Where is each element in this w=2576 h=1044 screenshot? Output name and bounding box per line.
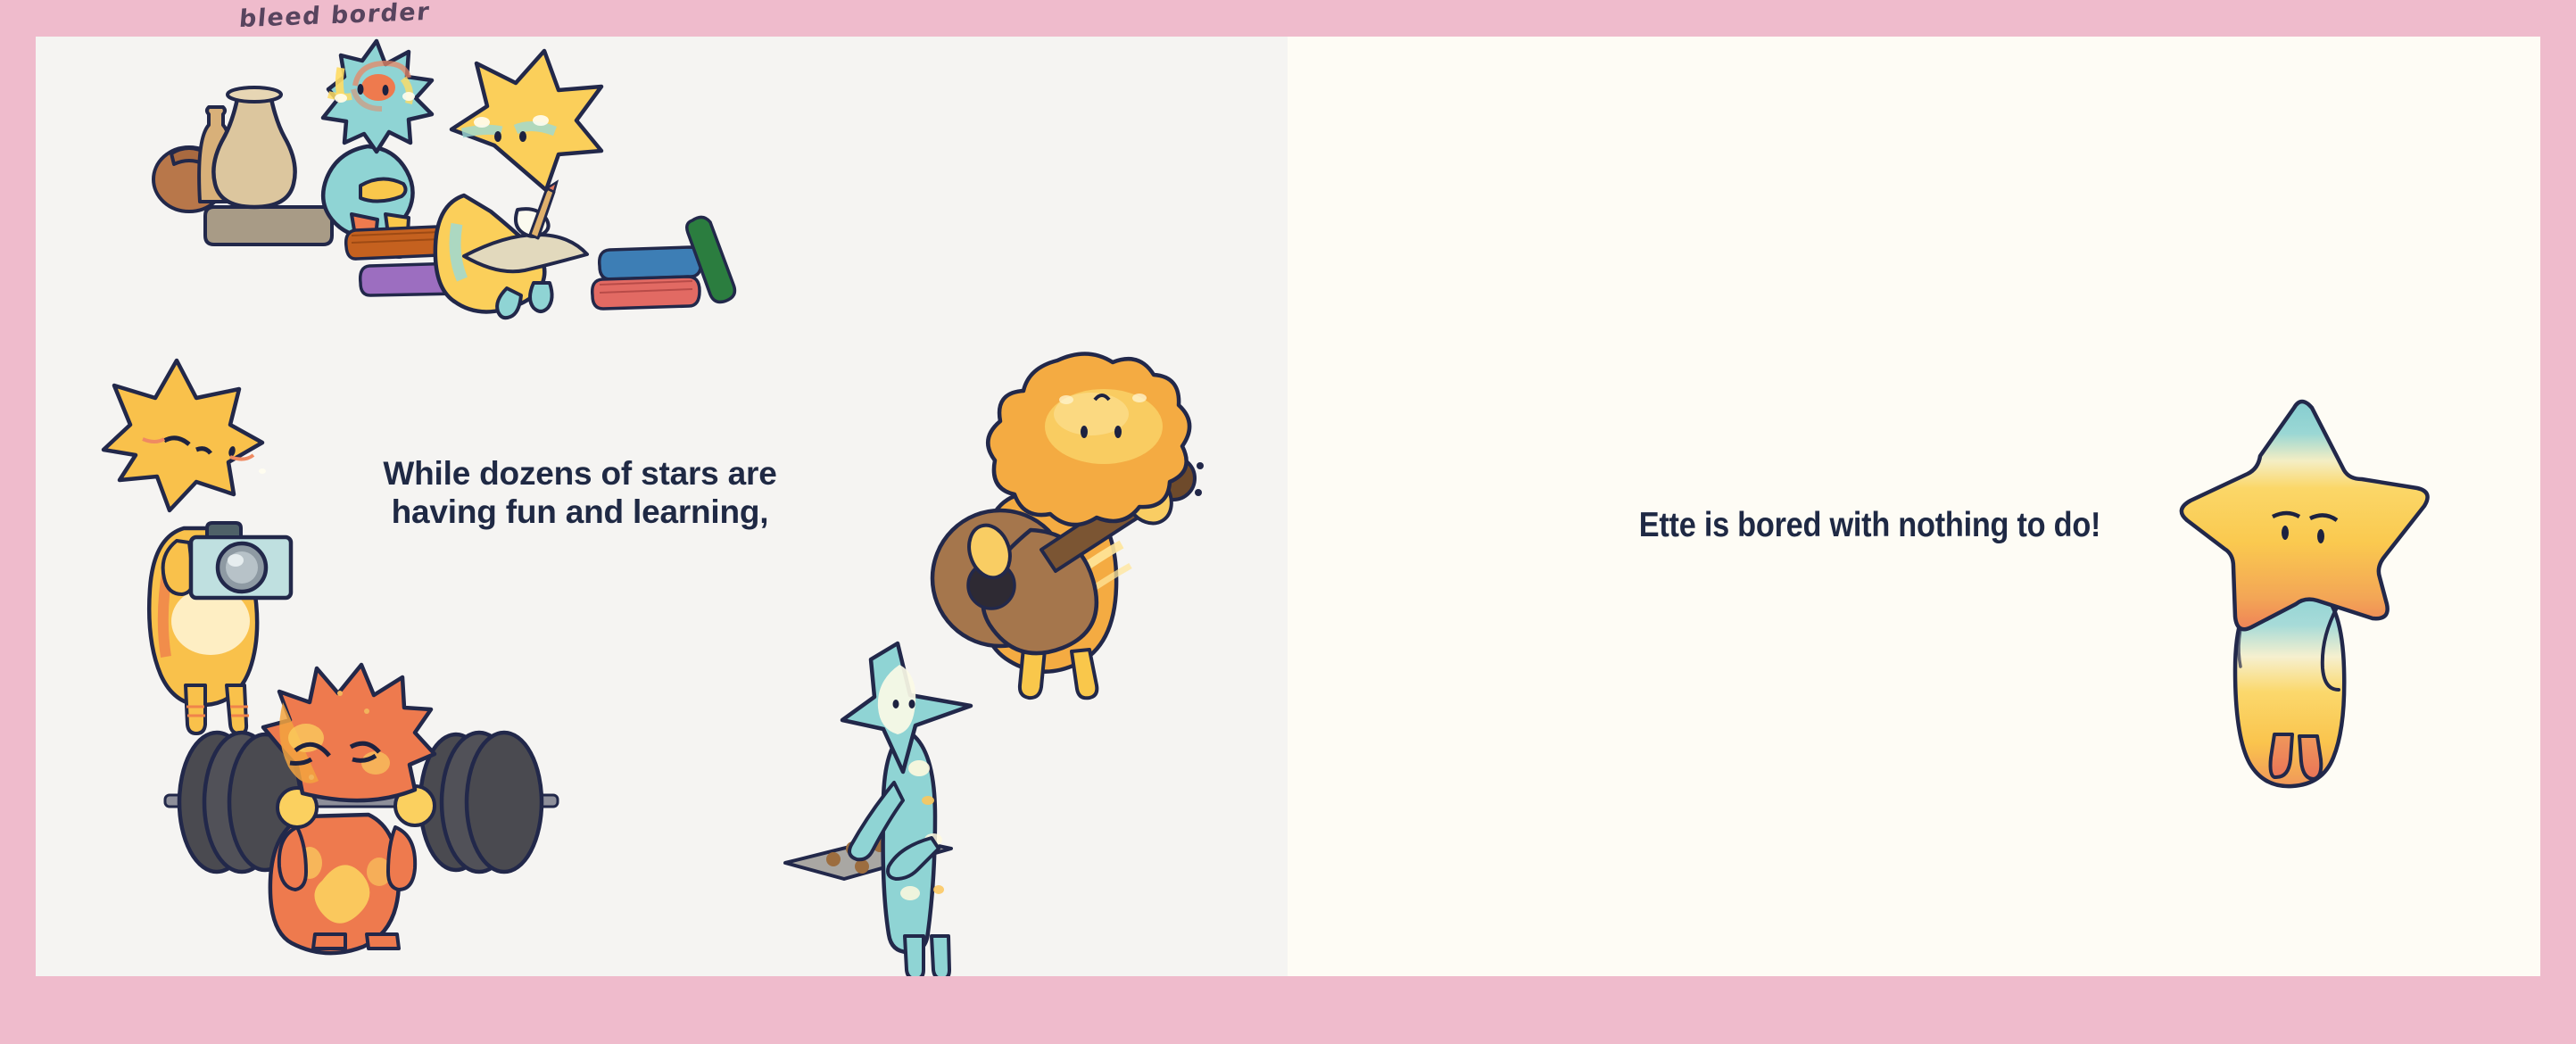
storybook-spread-canvas: bleed border (0, 0, 2576, 1044)
two-page-spread: While dozens of stars are having fun and… (36, 37, 2540, 976)
page-right: Ette is bored with nothing to do! (1288, 37, 2540, 976)
baking-star-illustration (785, 626, 1053, 976)
left-page-text: While dozens of stars are having fun and… (330, 454, 830, 532)
studying-star-illustration (330, 46, 750, 313)
ette-star-illustration (2180, 385, 2448, 786)
right-page-text: Ette is bored with nothing to do! (1357, 505, 2381, 546)
weightlifting-star-illustration (112, 652, 611, 947)
bleed-border-annotation: bleed border (238, 0, 432, 33)
page-left: While dozens of stars are having fun and… (36, 37, 1288, 976)
